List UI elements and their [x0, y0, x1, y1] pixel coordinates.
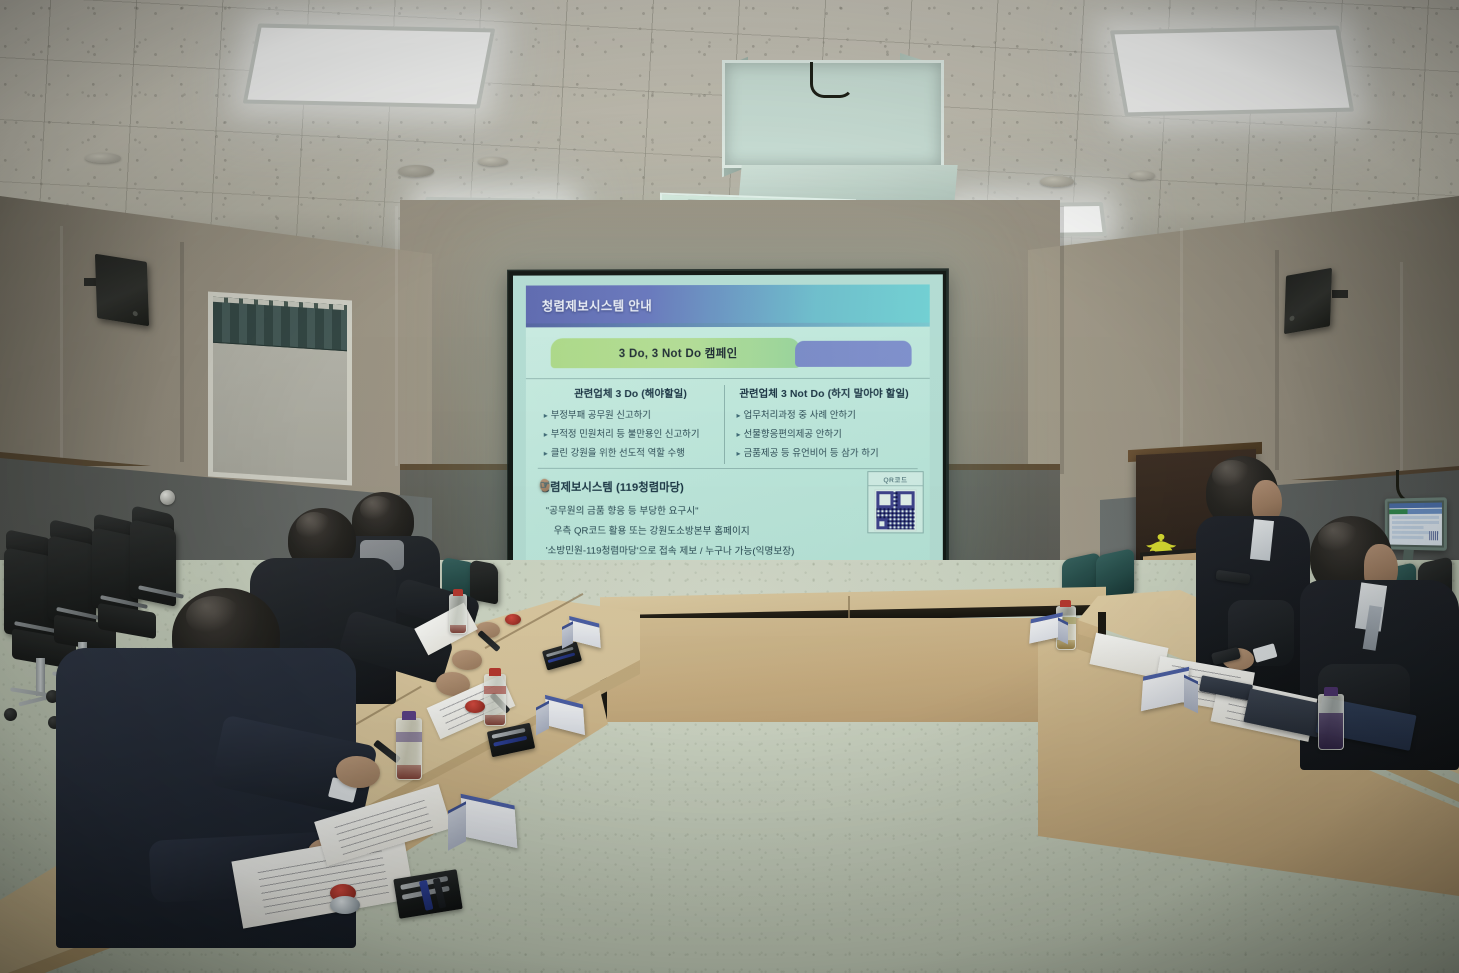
slide-bullet: ▸클린 강원을 위한 선도적 역할 수행 [544, 445, 720, 459]
web-page-nav [1389, 509, 1442, 515]
wall-seam [180, 242, 184, 462]
bottle-label [484, 686, 506, 694]
bottle-cap [402, 711, 416, 720]
web-page-header [1389, 502, 1442, 508]
wall-speaker [95, 254, 149, 327]
qr-finder-pattern [876, 518, 887, 529]
slide-lower-section: ☞청렴제보시스템 (119청렴마당) "공무원의 금품 향응 등 부당한 요구시… [526, 469, 930, 564]
speaker-bracket [1332, 290, 1348, 298]
sprinkler-head [478, 157, 508, 166]
speaker-logo [133, 311, 138, 317]
bullet-text: 업무처리과정 중 사례 안하기 [744, 409, 856, 420]
lower-section-heading: ☞청렴제보시스템 (119청렴마당) [540, 479, 916, 495]
projector-cable [810, 62, 854, 98]
presentation-slide: 청렴제보시스템 안내 3 Do, 3 Not Do 캠페인 관련업체 3 Do … [526, 284, 930, 565]
bullet-marker-icon: ▸ [544, 449, 548, 458]
bottle-contents [1319, 713, 1343, 749]
conference-room-photo: 청렴제보시스템 안내 3 Do, 3 Not Do 캠페인 관련업체 3 Do … [0, 0, 1459, 973]
coaster[interactable] [505, 614, 521, 625]
metal-coaster[interactable] [330, 896, 360, 914]
bullet-marker-icon: ▸ [736, 449, 740, 458]
smoke-detector [85, 153, 121, 163]
qr-code-label: QR코드 [868, 474, 922, 486]
valance-rail [213, 297, 347, 310]
table-seam [848, 596, 850, 618]
qr-code-block: QR코드 [867, 471, 923, 533]
table-modesty-panel [606, 618, 1100, 722]
column-heading: 관련업체 3 Not Do (하지 말아야 할일) [734, 385, 913, 400]
slide-two-column-block: 관련업체 3 Do (해야할일) ▸부정부패 공무원 신고하기 ▸부적정 민원처… [526, 378, 930, 464]
campaign-banner-label: 3 Do, 3 Not Do 캠페인 [526, 345, 930, 362]
pointing-hand-icon: ☞ [540, 479, 550, 492]
slide-title: 청렴제보시스템 안내 [526, 295, 652, 314]
wall-seam [395, 206, 398, 466]
water-bottle[interactable] [396, 718, 422, 780]
bullet-marker-icon: ▸ [736, 430, 740, 439]
lower-section-line: 우측 QR코드 활용 또는 강원도소방본부 홈페이지 [554, 523, 916, 538]
slide-bullet: ▸부정부패 공무원 신고하기 [544, 407, 720, 421]
bullet-text: 부정부패 공무원 신고하기 [551, 409, 651, 420]
web-page-qr-thumb [1429, 531, 1438, 540]
slide-bullet: ▸부적정 민원처리 등 불만용인 신고하기 [544, 426, 720, 440]
slide-title-underline [526, 323, 930, 328]
lower-heading-text: 청렴제보시스템 (119청렴마당) [540, 482, 684, 494]
slide-column-do: 관련업체 3 Do (해야할일) ▸부정부패 공무원 신고하기 ▸부적정 민원처… [538, 385, 724, 464]
web-page-row [1392, 516, 1439, 519]
web-page-row [1392, 536, 1423, 539]
wall-seam [1400, 262, 1403, 472]
sprinkler-head [1129, 171, 1155, 180]
ceiling-light-panel [1110, 26, 1354, 117]
paper-text-lines [257, 845, 389, 915]
water-bottle[interactable] [449, 594, 467, 634]
wall-speaker [1284, 268, 1332, 335]
water-bottle[interactable] [484, 674, 506, 726]
lower-section-line: "공무원의 금품 향응 등 부당한 요구시" [546, 503, 916, 518]
speaker-logo [1289, 315, 1294, 321]
window [208, 291, 352, 485]
slide-bullet: ▸선물향응편의제공 안하기 [736, 426, 913, 440]
bullet-text: 금품제공 등 유언비어 등 삼가 하기 [744, 447, 879, 458]
slide-title-bar: 청렴제보시스템 안내 [526, 284, 930, 323]
wall-seam [1275, 250, 1279, 470]
wall-seam [60, 226, 63, 458]
bullet-text: 클린 강원을 위한 선도적 역할 수행 [551, 447, 685, 458]
web-page-row [1392, 521, 1439, 524]
slide-column-not-do: 관련업체 3 Not Do (하지 말아야 할일) ▸업무처리과정 중 사례 안… [724, 385, 918, 464]
ceiling-light-panel [243, 24, 496, 109]
slide-bullet: ▸업무처리과정 중 사례 안하기 [736, 407, 913, 421]
web-page-row [1392, 526, 1423, 529]
projection-screen: 청렴제보시스템 안내 3 Do, 3 Not Do 캠페인 관련업체 3 Do … [509, 270, 947, 576]
bullet-text: 부적정 민원처리 등 불만용인 신고하기 [551, 428, 700, 439]
desktop-monitor [1385, 497, 1447, 551]
pen[interactable] [419, 880, 434, 911]
bottle-cap [453, 589, 463, 596]
bullet-text: 선물향응편의제공 안하기 [744, 428, 842, 439]
bullet-marker-icon: ▸ [736, 411, 740, 420]
bottle-contents [485, 715, 505, 725]
column-heading: 관련업체 3 Do (해야할일) [542, 385, 720, 400]
screen-surface: 청렴제보시스템 안내 3 Do, 3 Not Do 캠페인 관련업체 3 Do … [513, 274, 943, 572]
wall-seam [1060, 206, 1064, 474]
smoke-detector [398, 165, 434, 177]
bottle-cap [1060, 600, 1071, 607]
coaster[interactable] [465, 700, 485, 713]
bottle-label [396, 732, 422, 742]
bottle-contents [450, 625, 466, 633]
window-valance [213, 297, 347, 351]
bullet-marker-icon: ▸ [544, 430, 548, 439]
campaign-banner: 3 Do, 3 Not Do 캠페인 [526, 334, 930, 373]
water-bottle[interactable] [1318, 694, 1344, 750]
bottle-contents [397, 765, 421, 779]
monitor-screen [1389, 502, 1442, 545]
lower-section-line: '소방민원-119청렴마당'으로 접속 제보 / 누구나 가능(익명보장) [546, 543, 916, 558]
name-tent-fold [1058, 618, 1068, 645]
bullet-marker-icon: ▸ [544, 411, 548, 420]
bottle-cap [489, 668, 501, 676]
qr-code-image [874, 489, 916, 531]
name-tent-fold [1184, 675, 1198, 714]
smoke-detector [1040, 176, 1074, 187]
slide-bullet: ▸금품제공 등 유언비어 등 삼가 하기 [736, 445, 913, 459]
wall-seam [1180, 228, 1183, 470]
door-knob [160, 490, 175, 505]
bottle-cap [1324, 687, 1338, 696]
